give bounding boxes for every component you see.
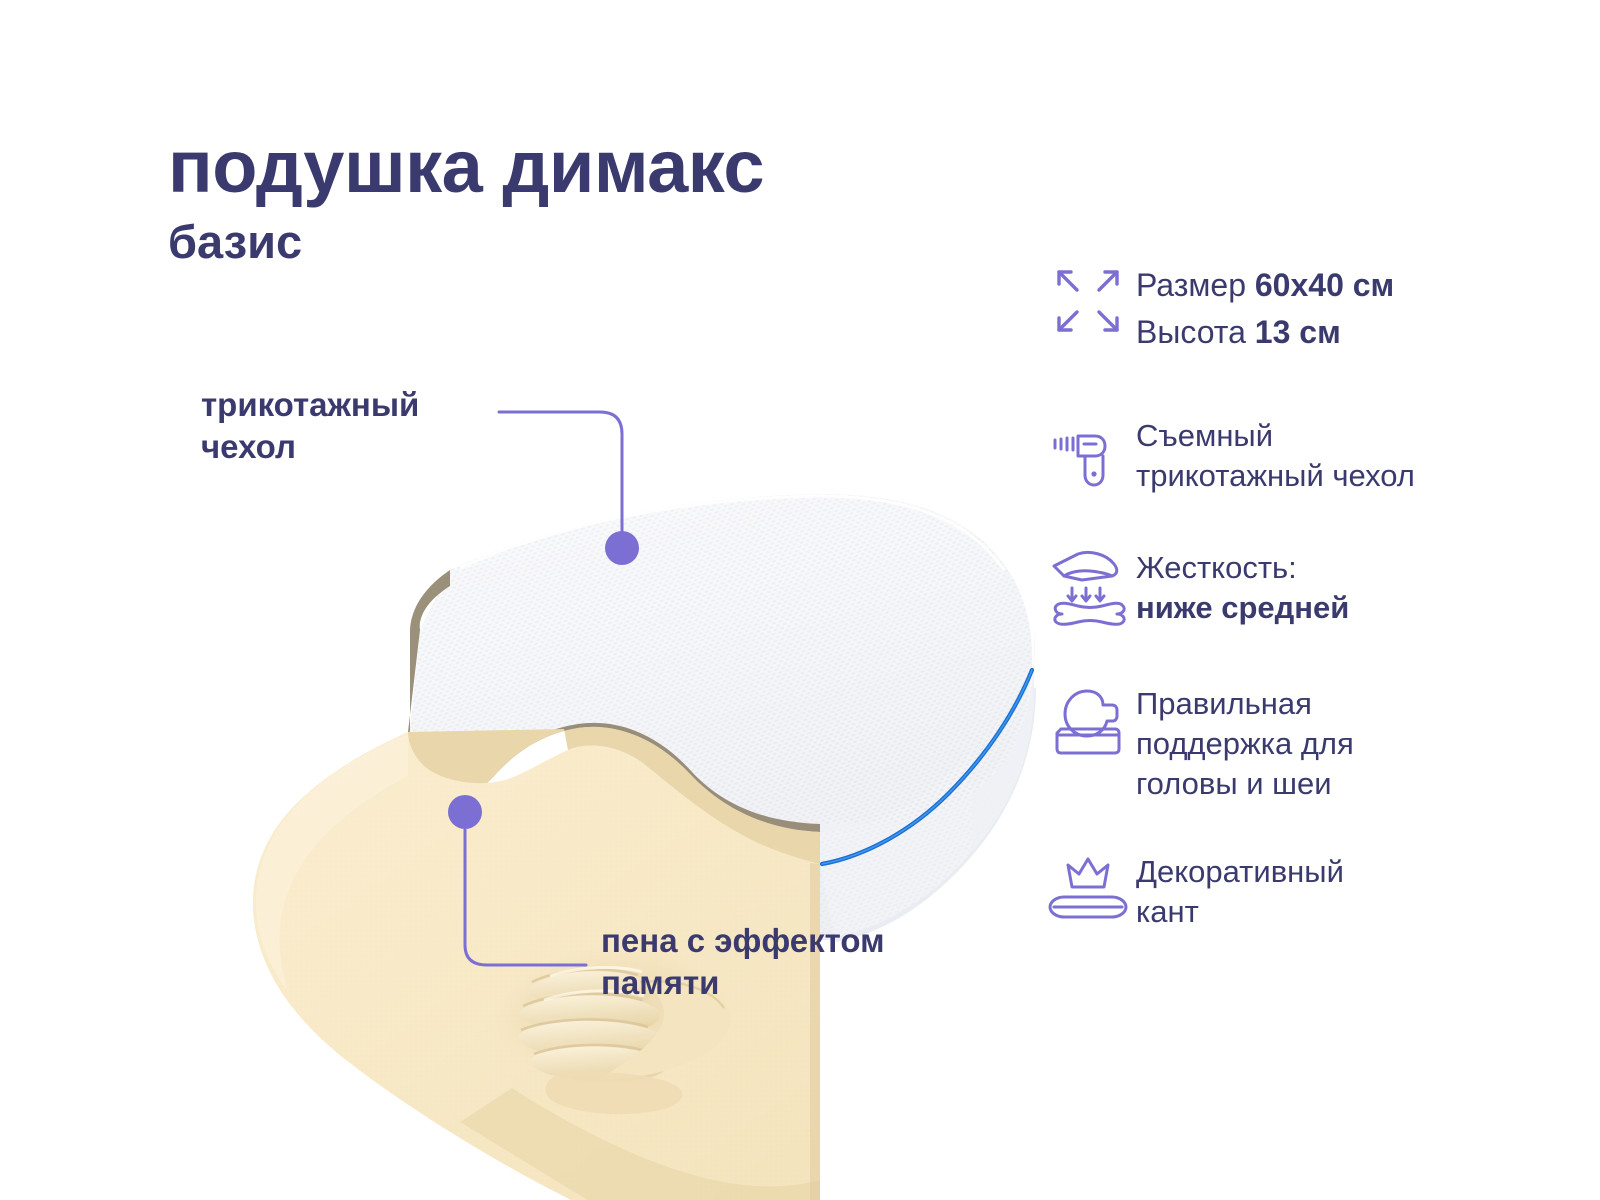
feature-text-size: Размер 60x40 см Высота 13 см (1130, 262, 1546, 356)
feature-line-dimensions: Размер 60x40 см (1136, 262, 1546, 309)
hand-press-pillow-icon (1046, 544, 1130, 628)
height-value: 13 см (1255, 314, 1341, 350)
feature-item-removable-cover: Съемный трикотажный чехол (1046, 412, 1546, 496)
page-title-block: подушка димакс базис (168, 128, 1028, 268)
zipper-icon (1046, 412, 1130, 496)
firmness-value: ниже средней (1136, 590, 1349, 625)
feature-text-support: Правильная поддержка для головы и шеи (1130, 680, 1546, 804)
feature-item-firmness: Жесткость: ниже средней (1046, 544, 1546, 628)
callout-label-knit-cover: трикотажный чехол (201, 384, 531, 468)
size-label: Размер (1136, 267, 1255, 303)
page-subtitle: базис (168, 216, 1028, 268)
head-on-pillow-icon (1046, 680, 1130, 764)
feature-text-piping: Декоративный кант (1130, 848, 1546, 932)
page-title: подушка димакс (168, 128, 1028, 206)
size-value: 60x40 см (1255, 267, 1394, 303)
feature-item-size: Размер 60x40 см Высота 13 см (1046, 262, 1546, 356)
feature-list: Размер 60x40 см Высота 13 см (1046, 262, 1546, 932)
callout-label-memory-foam: пена с эффектом памяти (601, 920, 1021, 1004)
crown-pillow-icon (1046, 848, 1130, 932)
feature-text-firmness: Жесткость: ниже средней (1130, 544, 1546, 628)
firmness-label: Жесткость: (1136, 550, 1297, 585)
feature-item-piping: Декоративный кант (1046, 848, 1546, 932)
feature-item-support: Правильная поддержка для головы и шеи (1046, 680, 1546, 804)
feature-line-height: Высота 13 см (1136, 309, 1546, 356)
feature-text-removable-cover: Съемный трикотажный чехол (1130, 412, 1546, 496)
pillow-illustration (120, 420, 1080, 980)
expand-arrows-icon (1046, 262, 1130, 340)
infographic-canvas: подушка димакс базис (0, 0, 1600, 1200)
height-label: Высота (1136, 314, 1255, 350)
